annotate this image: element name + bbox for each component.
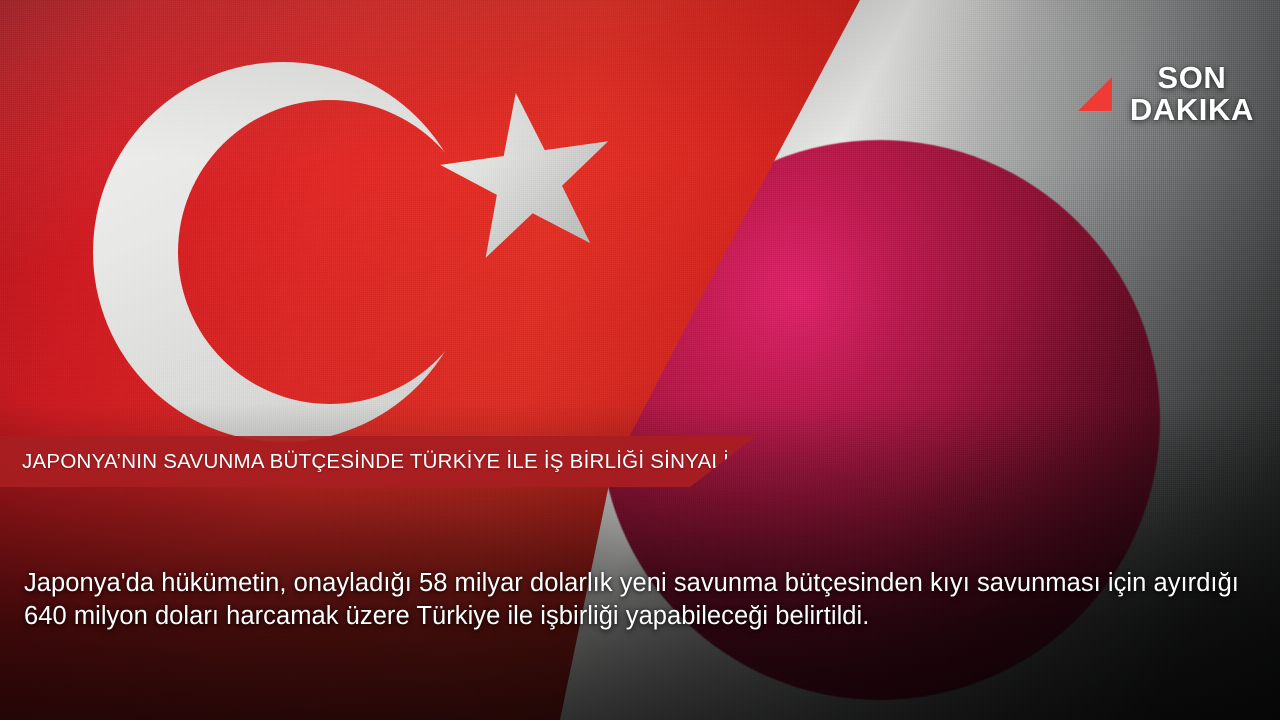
headline-banner: JAPONYA’NIN SAVUNMA BÜTÇESİNDE TÜRKİYE İ…	[0, 436, 756, 487]
news-card: SON DAKIKA JAPONYA’NIN SAVUNMA BÜTÇESİND…	[0, 0, 1280, 720]
breaking-news-line-1: SON	[1157, 62, 1226, 94]
breaking-news-label: SON DAKIKA	[1130, 62, 1254, 125]
headline-title: JAPONYA’NIN SAVUNMA BÜTÇESİNDE TÜRKİYE İ…	[0, 450, 729, 474]
breaking-news-triangle-icon	[1078, 77, 1112, 111]
breaking-news-badge: SON DAKIKA	[1078, 62, 1254, 125]
breaking-news-line-2: DAKIKA	[1130, 94, 1254, 126]
summary-text: Japonya'da hükümetin, onayladığı 58 mily…	[24, 567, 1262, 634]
